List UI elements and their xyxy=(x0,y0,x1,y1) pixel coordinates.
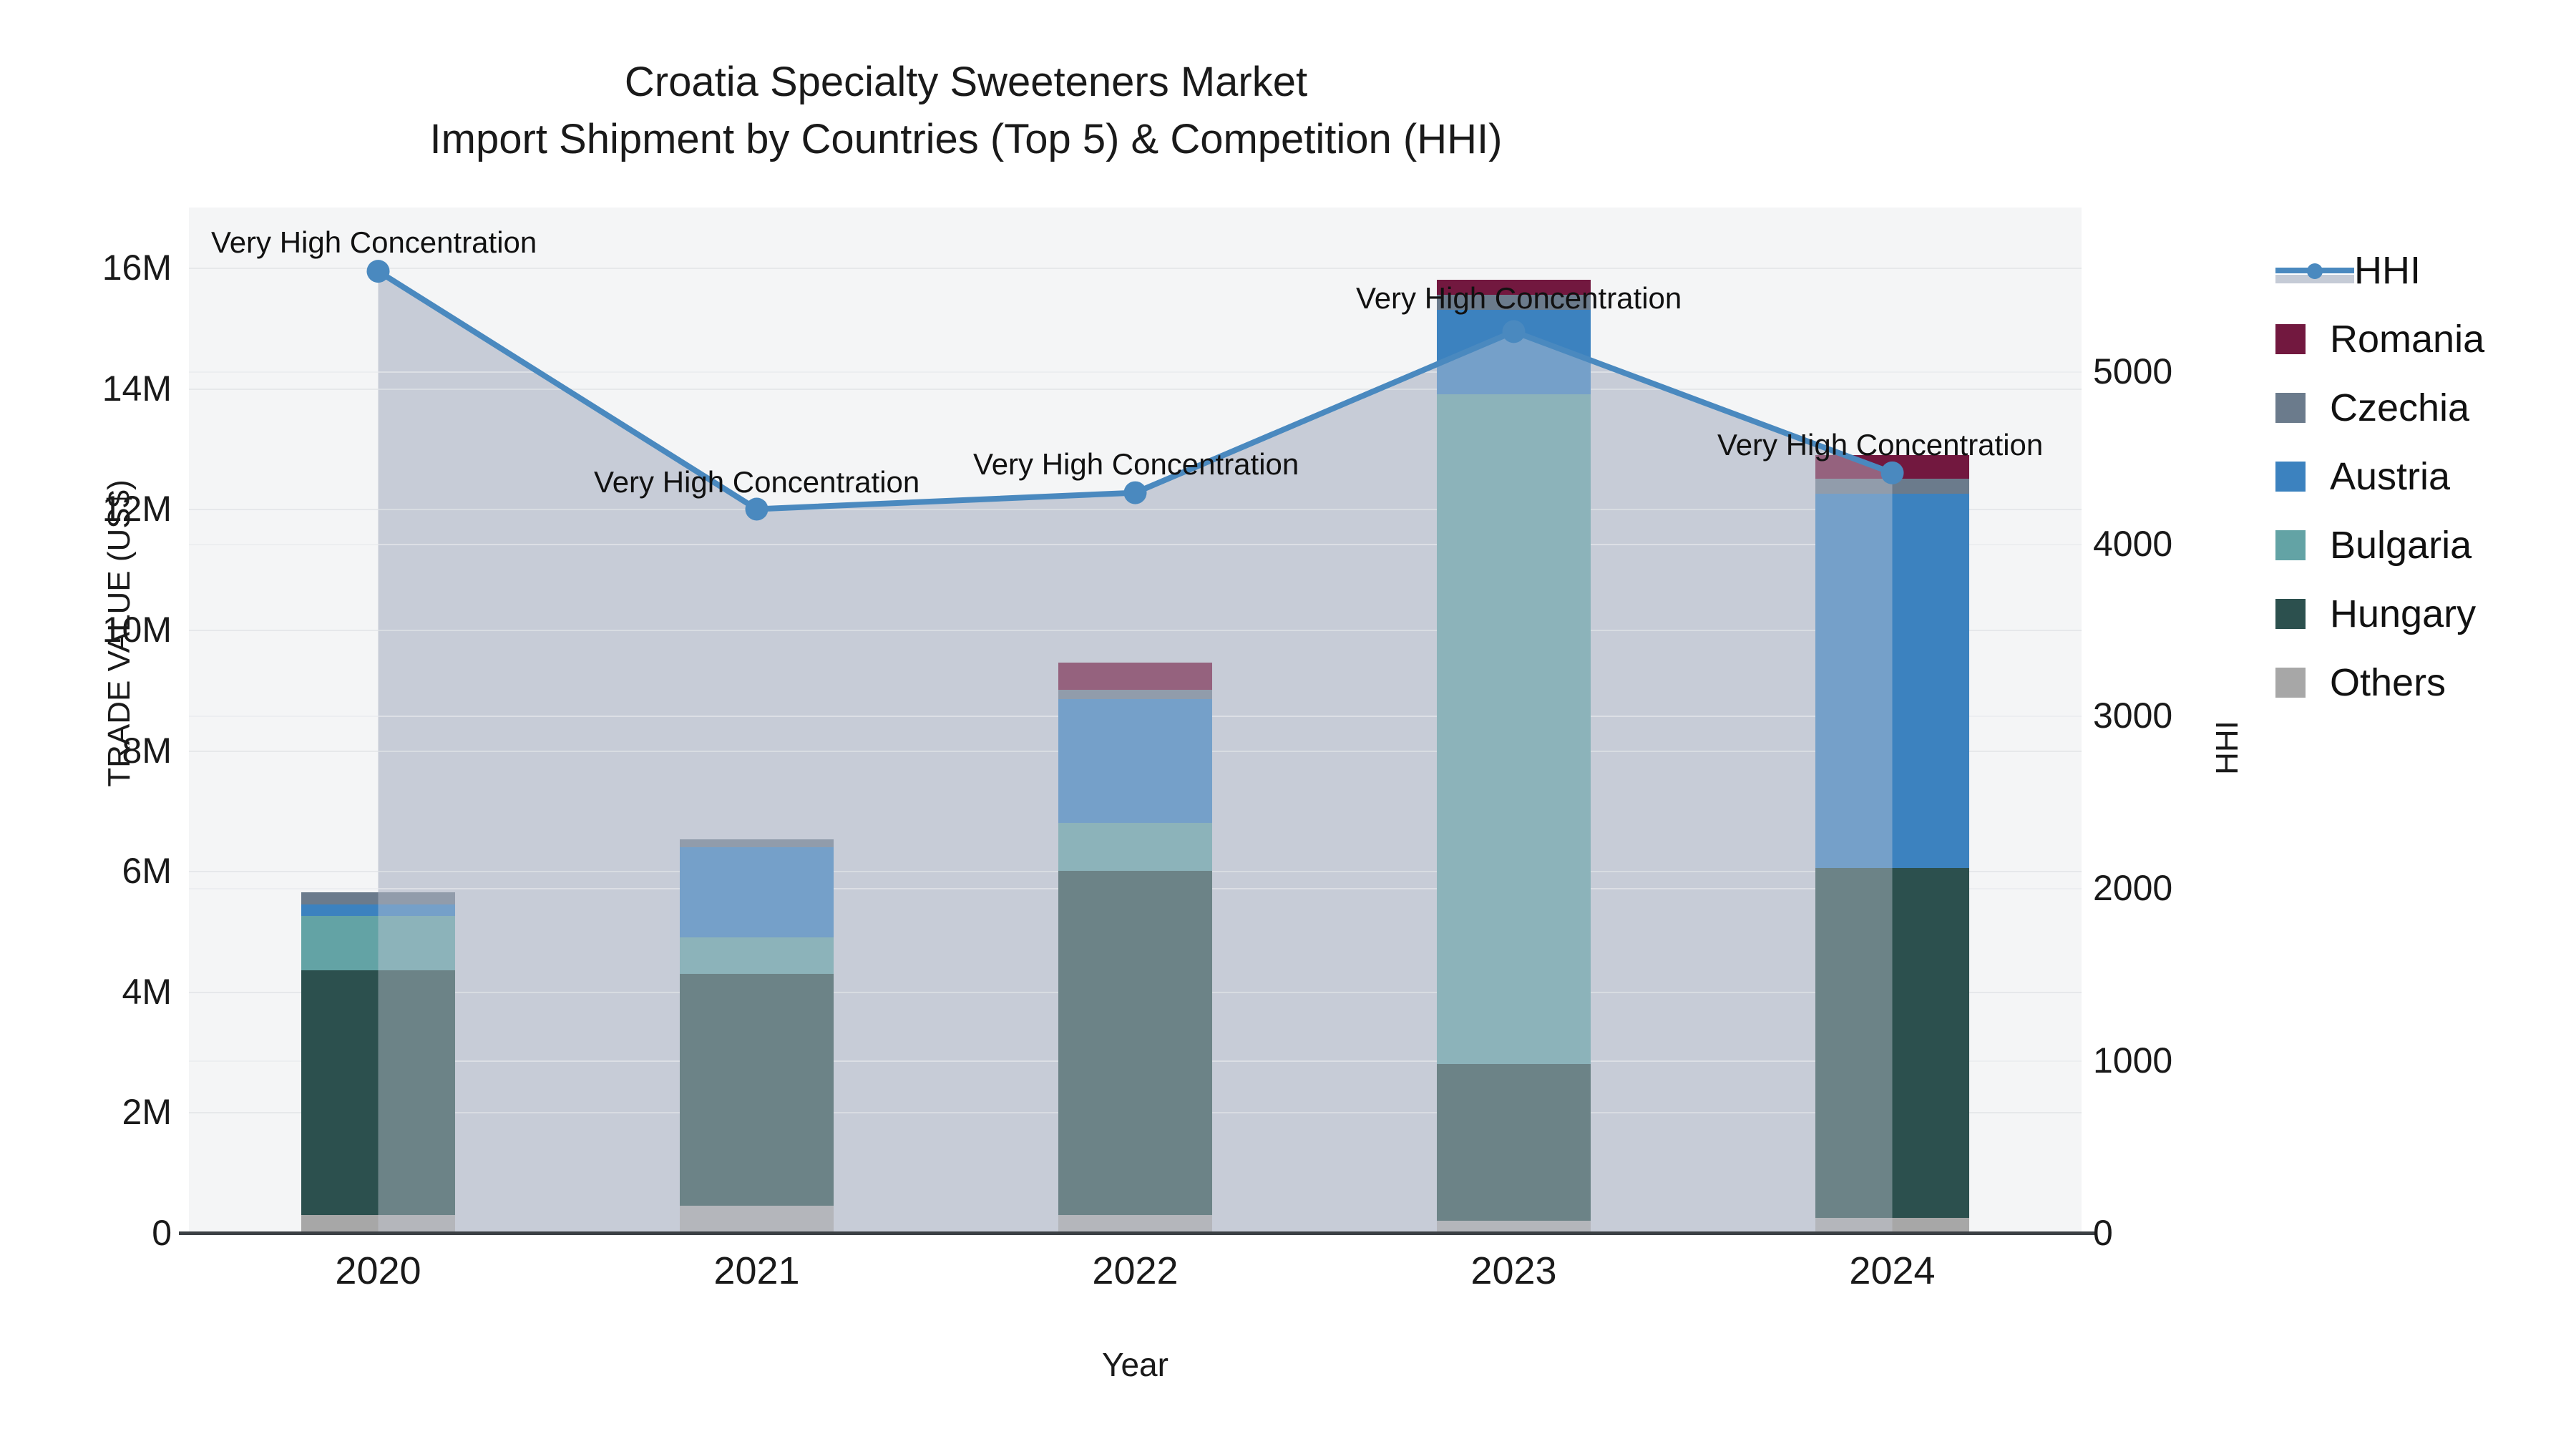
hhi-point-2022[interactable] xyxy=(1124,482,1147,504)
hhi-point-2024[interactable] xyxy=(1881,462,1904,484)
y-right-tick-1000: 1000 xyxy=(2093,1040,2172,1081)
legend-label-austria: Austria xyxy=(2330,454,2450,499)
plot-area xyxy=(189,208,2082,1233)
legend-label-hhi: HHI xyxy=(2354,248,2421,293)
chart-legend: HHIRomaniaCzechiaAustriaBulgariaHungaryO… xyxy=(2275,236,2576,717)
legend-label-hungary: Hungary xyxy=(2330,592,2476,636)
chart-title-block: Croatia Specialty Sweeteners Market Impo… xyxy=(0,54,1932,168)
legend-swatch-others xyxy=(2275,668,2306,698)
legend-item-others[interactable]: Others xyxy=(2275,648,2576,717)
x-axis-baseline xyxy=(179,1231,2097,1235)
annotation-2022: Very High Concentration xyxy=(973,447,1299,482)
x-tick-2021: 2021 xyxy=(650,1249,864,1293)
annotation-2023: Very High Concentration xyxy=(1356,281,1682,316)
y-right-tick-4000: 4000 xyxy=(2093,523,2172,565)
y-right-tick-3000: 3000 xyxy=(2093,695,2172,736)
chart-title-line-2: Import Shipment by Countries (Top 5) & C… xyxy=(0,111,1932,168)
legend-label-bulgaria: Bulgaria xyxy=(2330,523,2472,567)
legend-item-hhi[interactable]: HHI xyxy=(2275,236,2576,305)
y-axis-left-title: TRADE VALUE (US$) xyxy=(102,479,137,787)
legend-swatch-czechia xyxy=(2275,393,2306,423)
y-right-tick-5000: 5000 xyxy=(2093,351,2172,392)
x-tick-2023: 2023 xyxy=(1407,1249,1621,1293)
legend-swatch-romania xyxy=(2275,324,2306,354)
x-tick-2020: 2020 xyxy=(271,1249,486,1293)
legend-swatch-hungary xyxy=(2275,599,2306,629)
legend-swatch-austria xyxy=(2275,462,2306,492)
y-axis-right-title: HHI xyxy=(2210,721,2245,775)
chart-title-line-1: Croatia Specialty Sweeteners Market xyxy=(0,54,1932,111)
y-left-tick-6M: 6M xyxy=(0,850,172,892)
y-right-tick-0: 0 xyxy=(2093,1212,2113,1254)
y-left-tick-2M: 2M xyxy=(0,1091,172,1133)
hhi-overlay-svg xyxy=(189,208,2082,1233)
y-left-tick-0: 0 xyxy=(0,1212,172,1254)
legend-item-bulgaria[interactable]: Bulgaria xyxy=(2275,511,2576,580)
y-left-tick-4M: 4M xyxy=(0,971,172,1013)
x-tick-2024: 2024 xyxy=(1785,1249,2000,1293)
y-left-tick-16M: 16M xyxy=(0,247,172,288)
y-right-tick-2000: 2000 xyxy=(2093,867,2172,909)
legend-line-marker-icon xyxy=(2275,255,2354,286)
legend-item-czechia[interactable]: Czechia xyxy=(2275,374,2576,442)
legend-label-others: Others xyxy=(2330,660,2446,705)
chart-root: Croatia Specialty Sweeteners Market Impo… xyxy=(0,0,2576,1449)
legend-line-dot xyxy=(2307,263,2323,279)
legend-label-romania: Romania xyxy=(2330,317,2484,361)
y-left-tick-10M: 10M xyxy=(0,609,172,650)
annotation-2020: Very High Concentration xyxy=(211,225,537,260)
y-left-tick-12M: 12M xyxy=(0,488,172,530)
legend-item-hungary[interactable]: Hungary xyxy=(2275,580,2576,648)
legend-item-austria[interactable]: Austria xyxy=(2275,442,2576,511)
annotation-2021: Very High Concentration xyxy=(594,465,919,499)
hhi-point-2021[interactable] xyxy=(746,497,769,520)
hhi-point-2023[interactable] xyxy=(1503,320,1526,343)
hhi-point-2020[interactable] xyxy=(367,260,390,283)
annotation-2024: Very High Concentration xyxy=(1717,428,2043,462)
legend-swatch-bulgaria xyxy=(2275,530,2306,560)
legend-item-romania[interactable]: Romania xyxy=(2275,305,2576,374)
y-left-tick-14M: 14M xyxy=(0,368,172,409)
x-tick-2022: 2022 xyxy=(1028,1249,1243,1293)
x-axis-title: Year xyxy=(189,1345,2082,1384)
y-left-tick-8M: 8M xyxy=(0,730,172,771)
legend-label-czechia: Czechia xyxy=(2330,386,2469,430)
